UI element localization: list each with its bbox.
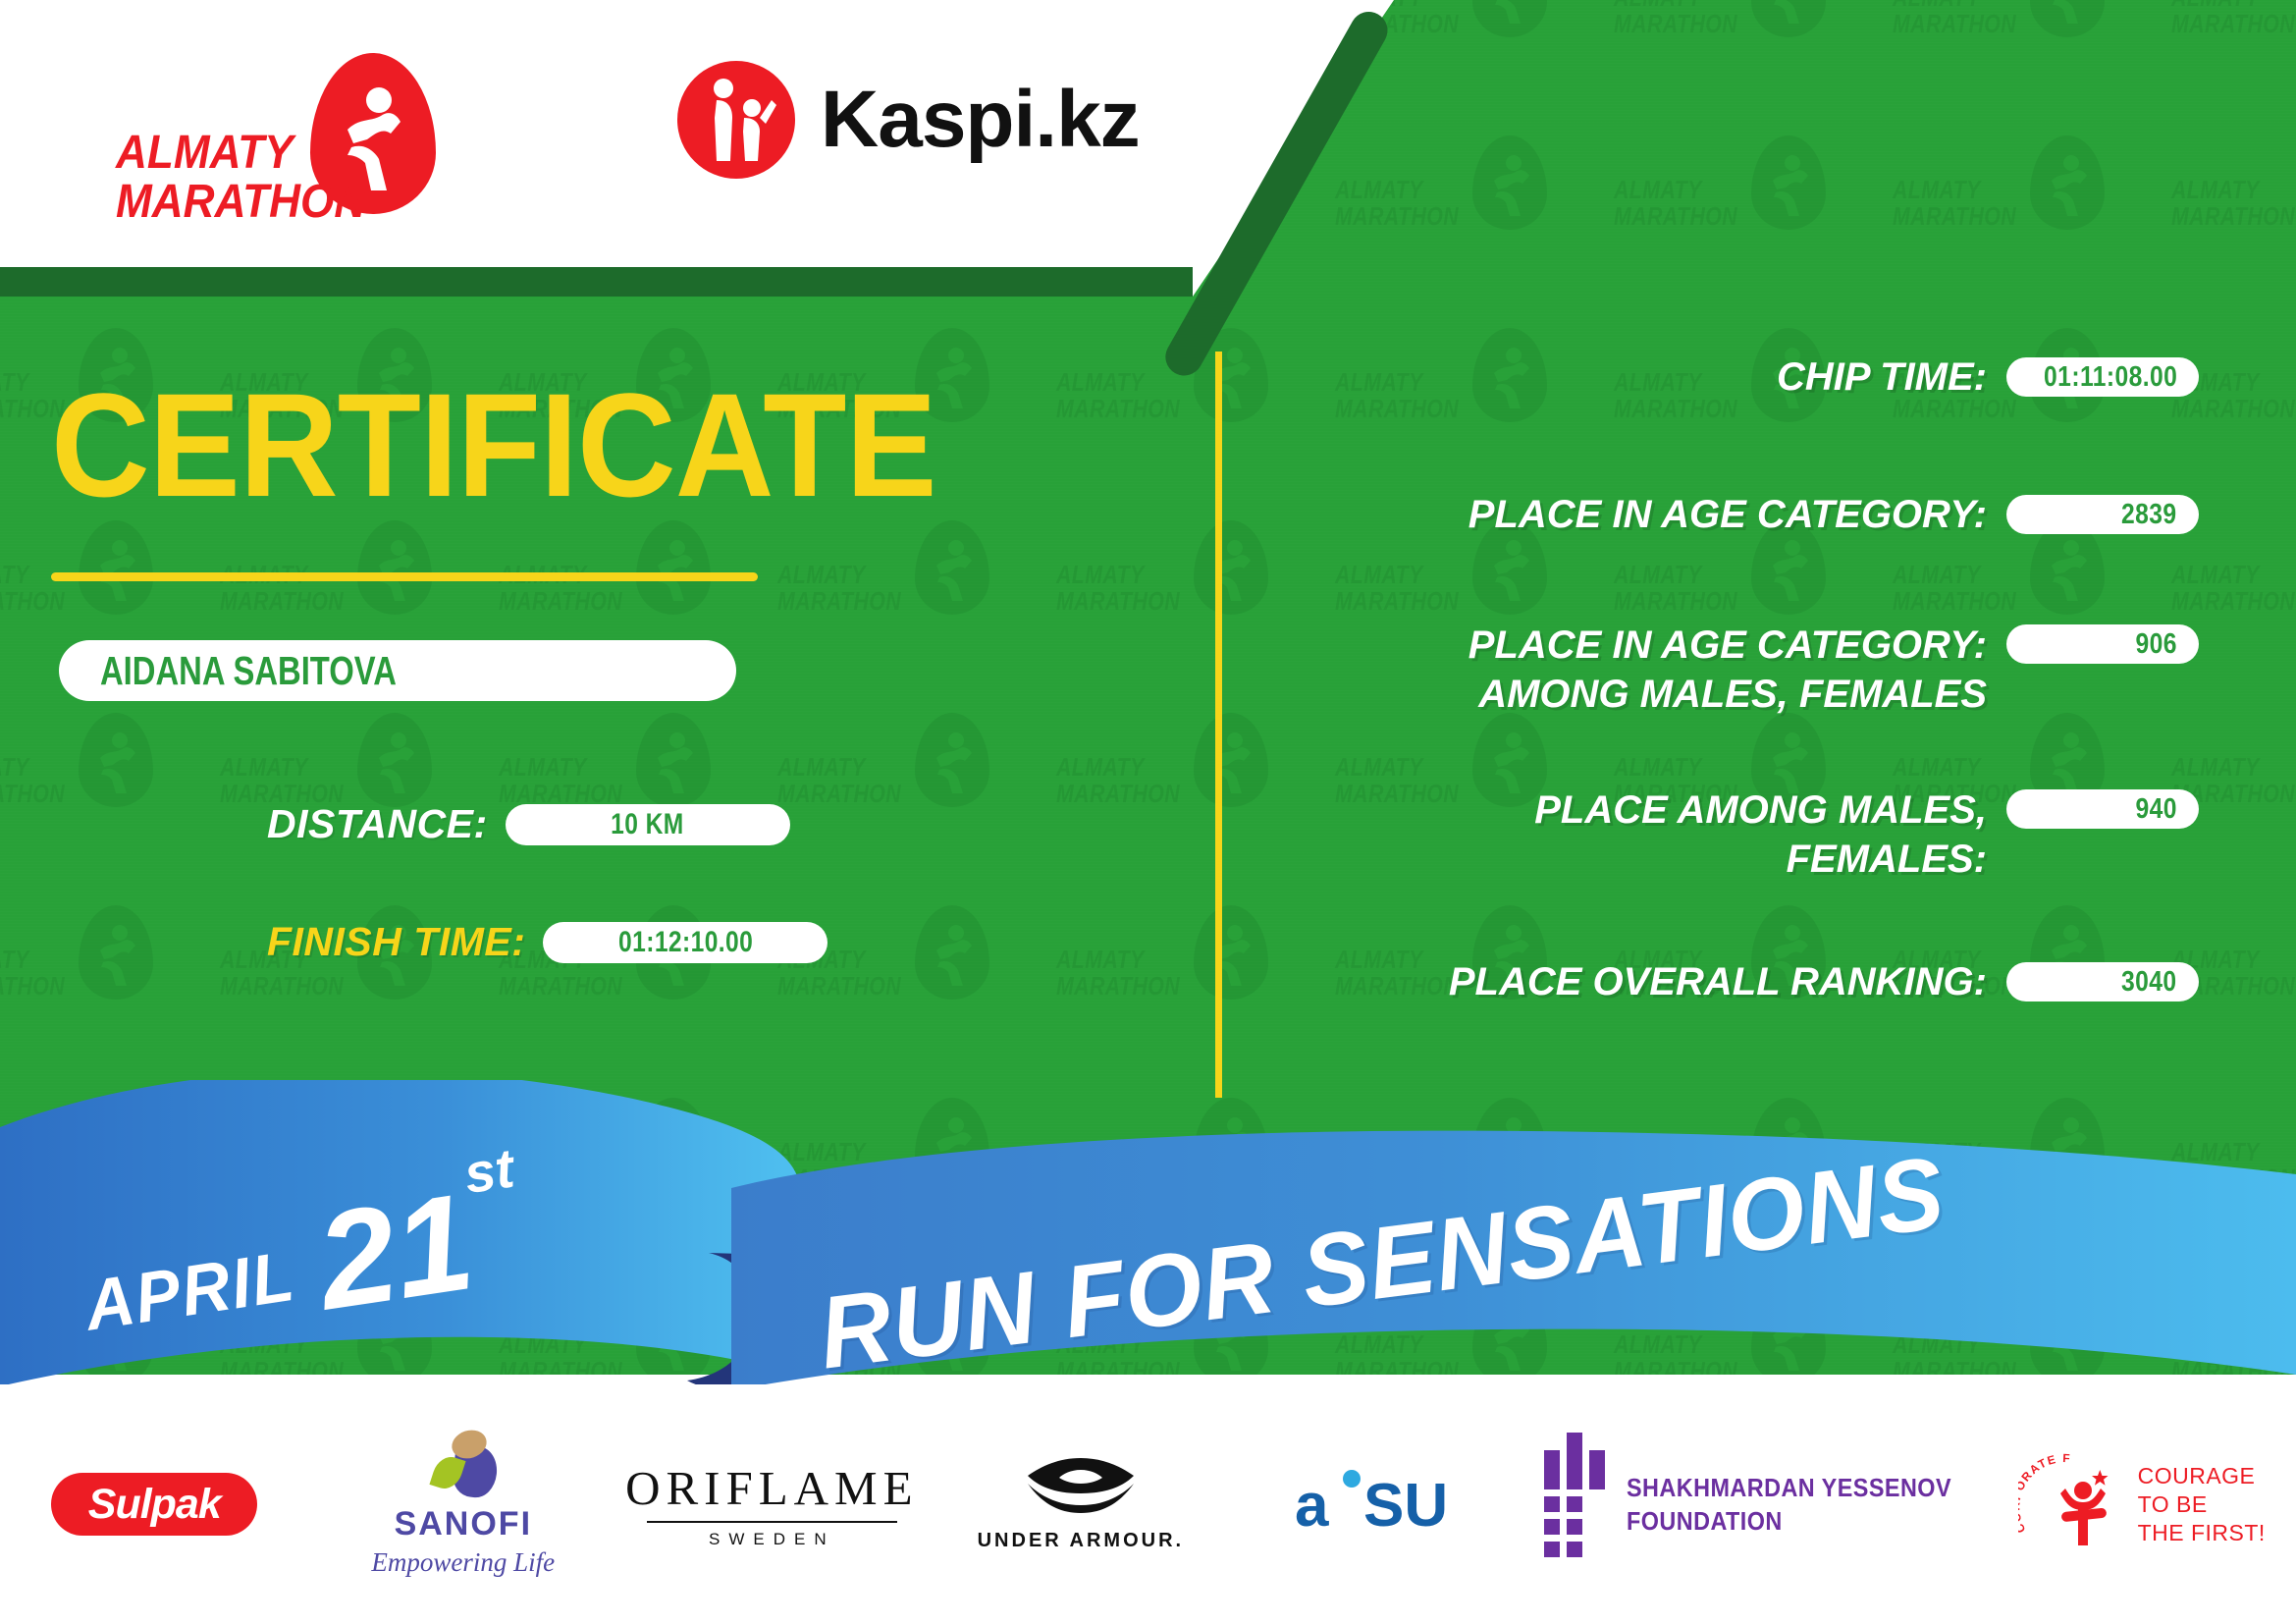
sulpak-name: Sulpak <box>88 1481 221 1529</box>
finish-time-row: FINISH TIME: 01:12:10.00 <box>267 919 828 965</box>
certificate-page: ALMATYMARATHONALMATYMARATHONALMATYMARATH… <box>0 0 2296 1624</box>
yessenov-logo: SHAKHMARDAN YESSENOV FOUNDATION <box>1544 1451 1988 1557</box>
result-value: 906 <box>2136 628 2177 661</box>
result-label: PLACE OVERALL RANKING: <box>1256 958 2006 1005</box>
finish-time-value-pill: 01:12:10.00 <box>543 922 828 963</box>
ribbon-month: APRIL <box>80 1236 299 1347</box>
sponsor-yessenov-foundation: SHAKHMARDAN YESSENOV FOUNDATION <box>1544 1426 1988 1583</box>
sponsor-sanofi: SANOFI Empowering Life <box>309 1426 618 1583</box>
almaty-marathon-logo: ALMATY MARATHON <box>116 49 440 196</box>
sanofi-logo: SANOFI Empowering Life <box>371 1431 555 1578</box>
sanofi-tagline: Empowering Life <box>371 1547 555 1578</box>
participant-name-field: AIDANA SABITOVA <box>59 640 736 701</box>
result-label-line1: PLACE IN AGE CATEGORY: <box>1256 621 1987 670</box>
result-label-line2: FEMALES: <box>1256 835 1987 884</box>
under-armour-icon <box>1008 1456 1153 1521</box>
result-value-pill: 01:11:08.00 <box>2006 357 2199 397</box>
distance-value-pill: 10 KM <box>506 804 790 845</box>
sponsor-bar: Sulpak SANOFI Empowering Life ORIFLAME S… <box>0 1384 2296 1624</box>
result-value-pill: 906 <box>2006 624 2199 664</box>
distance-label: DISTANCE: <box>267 801 488 847</box>
sponsor-courage-fund: CORPORATE FUND COURAGE TO BE THE FIRST! <box>1987 1426 2296 1583</box>
header-divider-dark-green <box>0 267 1193 297</box>
result-value-pill: 3040 <box>2006 962 2199 1001</box>
yessenov-name-line2: FOUNDATION <box>1627 1504 1951 1538</box>
courage-fund-logo: CORPORATE FUND COURAGE TO BE THE FIRST! <box>2018 1449 2266 1559</box>
svg-text:a: a <box>1295 1472 1329 1540</box>
result-label: CHIP TIME: <box>1256 353 2006 401</box>
sponsor-asu: a SU <box>1235 1426 1544 1583</box>
result-label: PLACE IN AGE CATEGORY: AMONG MALES, FEMA… <box>1256 621 2006 719</box>
result-row-chip-time: CHIP TIME: 01:11:08.00 <box>1256 353 2199 401</box>
sanofi-mark-icon <box>424 1431 503 1499</box>
courage-line3: THE FIRST! <box>2138 1519 2266 1547</box>
result-row-place-overall: PLACE OVERALL RANKING: 3040 <box>1256 958 2199 1005</box>
kaspi-people-icon <box>677 61 795 179</box>
result-value: 2839 <box>2121 499 2177 531</box>
courage-line1: COURAGE <box>2138 1462 2266 1490</box>
result-value-pill: 2839 <box>2006 495 2199 534</box>
oriflame-tagline: SWEDEN <box>709 1530 835 1549</box>
ribbon-day: 21 <box>310 1178 480 1326</box>
courage-fund-icon: CORPORATE FUND <box>2018 1449 2128 1559</box>
sponsor-sulpak: Sulpak <box>0 1426 309 1583</box>
result-row-place-among-gender: PLACE AMONG MALES, FEMALES: 940 <box>1256 785 2199 884</box>
result-label: PLACE IN AGE CATEGORY: <box>1256 491 2006 538</box>
result-value: 940 <box>2136 793 2177 826</box>
svg-text:SU: SU <box>1363 1472 1448 1540</box>
result-label-line2: AMONG MALES, FEMALES <box>1256 670 1987 719</box>
finish-time-value: 01:12:10.00 <box>618 926 753 959</box>
oriflame-rule <box>647 1521 897 1523</box>
yessenov-name: SHAKHMARDAN YESSENOV FOUNDATION <box>1627 1471 1951 1538</box>
distance-value: 10 KM <box>611 808 684 841</box>
sanofi-name: SANOFI <box>395 1505 532 1543</box>
result-label-line1: PLACE AMONG MALES, <box>1256 785 1987 835</box>
courage-fund-text: COURAGE TO BE THE FIRST! <box>2138 1462 2266 1547</box>
yessenov-name-line1: SHAKHMARDAN YESSENOV <box>1627 1471 1951 1504</box>
oriflame-logo: ORIFLAME SWEDEN <box>625 1460 918 1549</box>
result-value: 3040 <box>2121 966 2177 999</box>
result-label: PLACE AMONG MALES, FEMALES: <box>1256 785 2006 884</box>
distance-row: DISTANCE: 10 KM <box>267 801 790 847</box>
under-armour-logo: UNDER ARMOUR. <box>978 1456 1184 1552</box>
kaspi-logo: Kaspi.kz <box>677 61 1140 179</box>
yessenov-bars-icon <box>1544 1451 1605 1557</box>
result-row-place-age-category: PLACE IN AGE CATEGORY: 2839 <box>1256 491 2199 538</box>
title-underline <box>51 572 758 581</box>
ribbon-ordinal: st <box>460 1136 518 1207</box>
sponsor-under-armour: UNDER ARMOUR. <box>927 1426 1236 1583</box>
result-value: 01:11:08.00 <box>2044 361 2177 394</box>
almaty-marathon-line2: MARATHON <box>116 175 365 229</box>
almaty-marathon-line1: ALMATY <box>116 126 294 180</box>
under-armour-name: UNDER ARMOUR. <box>978 1530 1184 1552</box>
sponsor-oriflame: ORIFLAME SWEDEN <box>617 1426 927 1583</box>
page-title: CERTIFICATE <box>51 371 936 518</box>
asu-logo: a SU <box>1291 1463 1487 1545</box>
finish-time-label: FINISH TIME: <box>267 919 525 965</box>
sulpak-logo: Sulpak <box>51 1473 257 1536</box>
courage-line2: TO BE <box>2138 1490 2266 1519</box>
result-row-place-age-category-gender: PLACE IN AGE CATEGORY: AMONG MALES, FEMA… <box>1256 621 2199 719</box>
oriflame-name: ORIFLAME <box>625 1460 918 1516</box>
vertical-divider <box>1215 352 1222 1098</box>
kaspi-name: Kaspi.kz <box>821 74 1140 166</box>
result-value-pill: 940 <box>2006 789 2199 829</box>
participant-name-value: AIDANA SABITOVA <box>100 648 397 694</box>
